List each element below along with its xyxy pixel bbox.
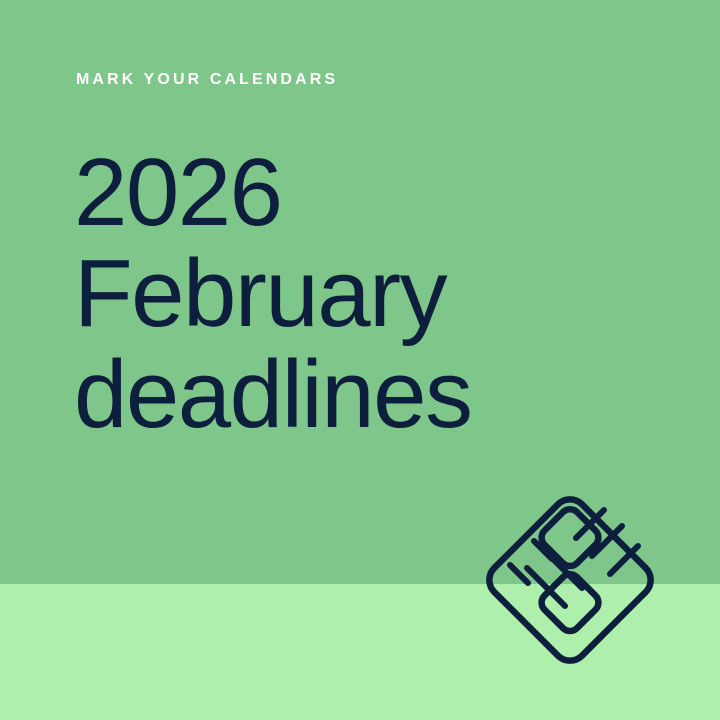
headline-line-year: 2026 (74, 142, 674, 243)
flying-calendar-card-icon (470, 480, 670, 680)
poster-canvas: MARK YOUR CALENDARS 2026 February deadli… (0, 0, 720, 720)
poster-content: MARK YOUR CALENDARS 2026 February deadli… (0, 0, 720, 720)
headline-line-month: February (74, 243, 674, 344)
page-title: 2026 February deadlines (74, 142, 674, 445)
headline-line-subject: deadlines (74, 344, 674, 445)
eyebrow-label: MARK YOUR CALENDARS (76, 72, 338, 88)
